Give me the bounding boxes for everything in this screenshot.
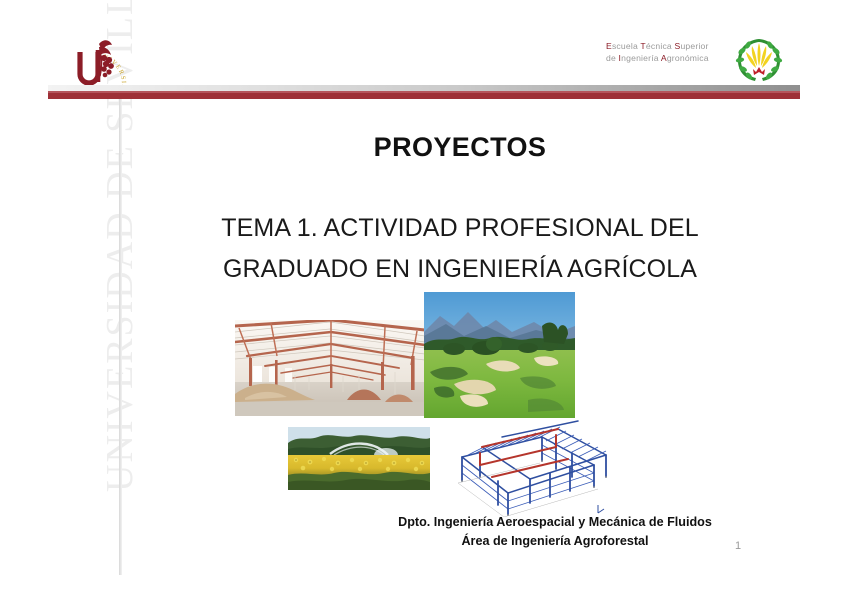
- page-subtitle: TEMA 1. ACTIVIDAD PROFESIONAL DEL GRADUA…: [150, 208, 770, 290]
- vertical-divider-rule: [119, 98, 122, 575]
- etsia-wordmark-line2: de Ingeniería Agronómica: [606, 52, 709, 64]
- footer-line1: Dpto. Ingeniería Aeroespacial y Mecánica…: [330, 513, 780, 532]
- etsia-wordmark-line1: Escuela Técnica Superior: [606, 40, 709, 52]
- page-subtitle-line2: GRADUADO EN INGENIERÍA AGRÍCOLA: [150, 249, 770, 290]
- presentation-slide: UNIVERSIDAD DE SEVILLA UNIVERSIDAD DE SE…: [0, 0, 848, 599]
- warehouse-interior-photo: [235, 320, 425, 416]
- golf-course-photo: [424, 292, 575, 418]
- sunflower-irrigation-photo: [288, 427, 430, 490]
- etsia-wreath-emblem-icon: [733, 33, 785, 85]
- steel-frame-3d-model: [446, 419, 612, 517]
- header-red-rule: [48, 93, 800, 99]
- etsia-school-wordmark: Escuela Técnica Superior de Ingeniería A…: [606, 40, 709, 64]
- page-title: PROYECTOS: [200, 132, 720, 163]
- footer-line2: Área de Ingeniería Agroforestal: [330, 532, 780, 551]
- department-footer: Dpto. Ingeniería Aeroespacial y Mecánica…: [330, 513, 780, 551]
- page-subtitle-line1: TEMA 1. ACTIVIDAD PROFESIONAL DEL: [150, 208, 770, 249]
- universidad-de-sevilla-seal-icon: UNIVERSIDAD DE SEVILLA: [58, 24, 132, 90]
- page-number: 1: [728, 540, 748, 552]
